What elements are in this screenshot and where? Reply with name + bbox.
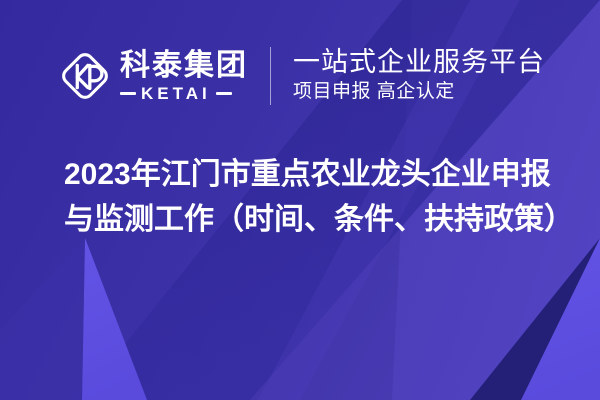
- promo-banner: 科泰集团 KETAI 一站式企业服务平台 项目申报 高企认定 2023年江门市重…: [0, 0, 600, 400]
- dash-left-icon: [120, 92, 136, 95]
- logo-company-name-cn: 科泰集团: [120, 50, 248, 82]
- ketai-kp-monogram-logo: [58, 49, 112, 103]
- header-divider: [270, 47, 271, 105]
- logo-wordmark: 科泰集团 KETAI: [120, 50, 248, 102]
- banner-header: 科泰集团 KETAI 一站式企业服务平台 项目申报 高企认定: [58, 40, 545, 112]
- tagline-secondary: 项目申报 高企认定: [293, 80, 545, 105]
- tagline-block: 一站式企业服务平台 项目申报 高企认定: [293, 47, 545, 105]
- logo-company-name-en: KETAI: [141, 85, 211, 102]
- logo-company-name-en-row: KETAI: [120, 85, 248, 102]
- dash-right-icon: [216, 92, 232, 95]
- tagline-primary: 一站式企业服务平台: [293, 47, 545, 77]
- page-title: 2023年江门市重点农业龙头企业申报与监测工作（时间、条件、扶持政策）: [64, 152, 564, 242]
